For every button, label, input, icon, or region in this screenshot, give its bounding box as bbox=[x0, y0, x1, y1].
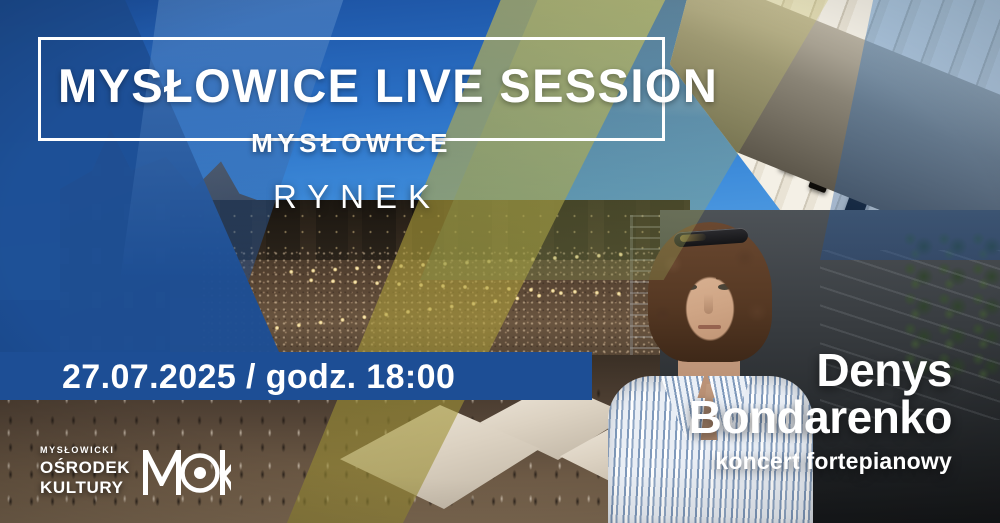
subtitle-city-row: MYSŁOWICE bbox=[38, 128, 665, 159]
mok-monogram-icon bbox=[140, 444, 232, 498]
mok-line-myslowicki: MYSŁOWICKI bbox=[40, 446, 130, 455]
mok-logo-wordmark: MYSŁOWICKI OŚRODEK KULTURY bbox=[40, 446, 130, 496]
subtitle-city: MYSŁOWICE bbox=[251, 128, 452, 159]
event-date-time: 27.07.2025 / godz. 18:00 bbox=[62, 358, 455, 397]
mok-line-osrodek: OŚRODEK bbox=[40, 459, 130, 476]
subtitle-place: RYNEK bbox=[38, 178, 665, 216]
page-title: MYSŁOWICE LIVE SESSION bbox=[58, 62, 658, 109]
artist-description: koncert fortepianowy bbox=[689, 448, 952, 475]
artist-first-name: Denys bbox=[689, 348, 952, 393]
mok-line-kultury: KULTURY bbox=[40, 479, 130, 496]
artist-block: Denys Bondarenko koncert fortepianowy bbox=[689, 348, 952, 475]
mok-logo: MYSŁOWICKI OŚRODEK KULTURY bbox=[40, 444, 232, 498]
event-poster: MYSŁOWICE LIVE SESSION MYSŁOWICE RYNEK 2… bbox=[0, 0, 1000, 523]
artist-last-name: Bondarenko bbox=[689, 393, 952, 441]
